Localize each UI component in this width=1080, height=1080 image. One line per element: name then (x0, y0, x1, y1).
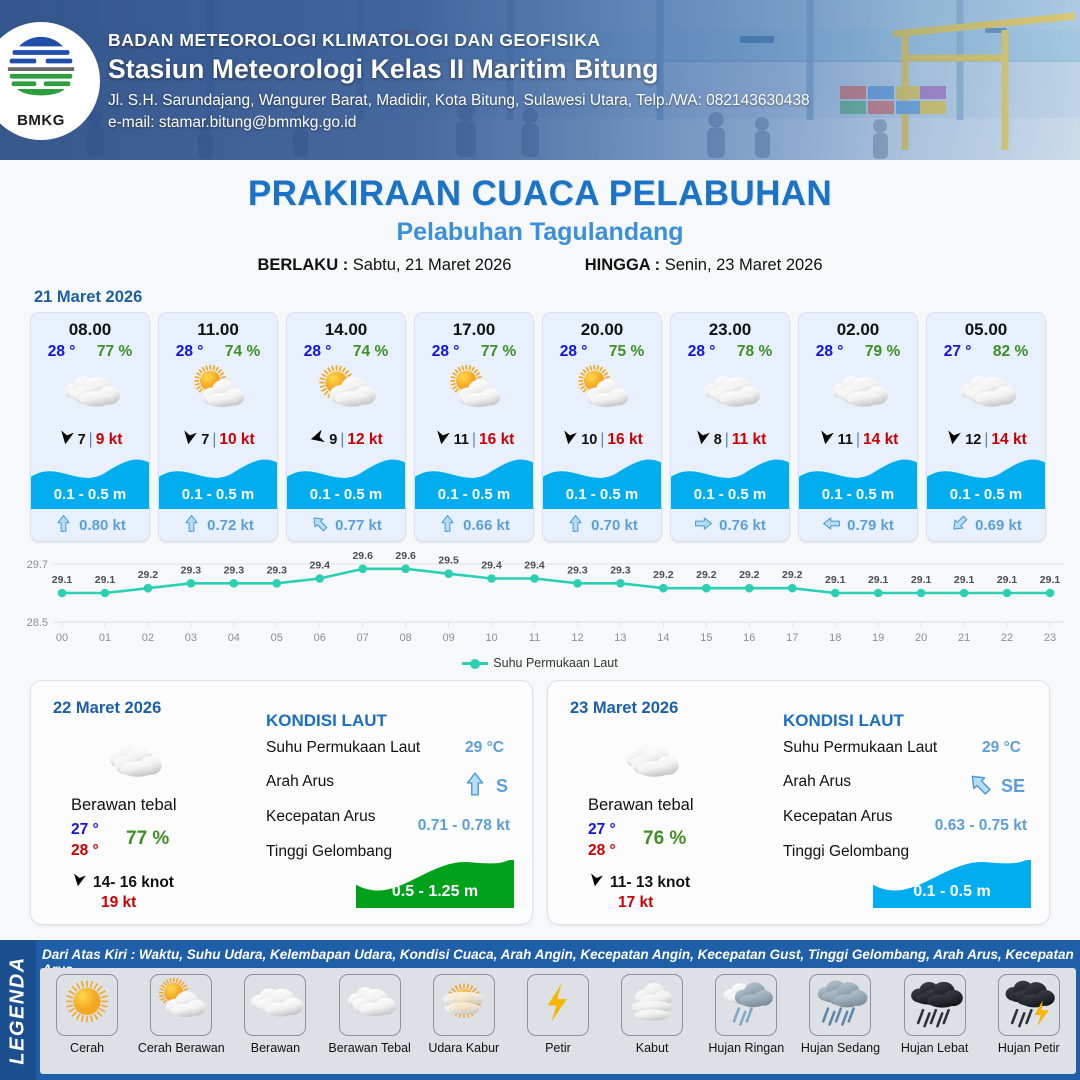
sea-condition-title: KONDISI LAUT (783, 711, 904, 731)
svg-text:07: 07 (357, 632, 369, 644)
hujan-petir-icon (1001, 975, 1057, 1036)
svg-text:29.7: 29.7 (27, 559, 48, 571)
svg-text:09: 09 (442, 632, 454, 644)
legenda-item-label: Udara Kabur (420, 1041, 508, 1055)
svg-text:29.4: 29.4 (481, 560, 502, 572)
panel-condition: Berawan tebal (71, 796, 177, 815)
hourly-card: 02.00 28 ° 79 % 11 | 14 kt 0.1 - 0.5 m (798, 312, 918, 542)
current-direction-arrow-icon (462, 771, 488, 802)
card-wave-block: 0.1 - 0.5 m (415, 457, 533, 509)
sst-chart-svg: 29.728.529.10029.10129.20229.30329.30429… (0, 550, 1080, 655)
valid-to-label: HINGGA : (585, 256, 660, 274)
svg-text:10: 10 (485, 632, 497, 644)
station-email: e-mail: stamar.bitung@bmmkg.go.id (108, 114, 810, 132)
hourly-card: 08.00 28 ° 77 % 7 | 9 kt 0.1 - 0.5 m (30, 312, 150, 542)
wind-direction-arrow-icon (588, 871, 604, 894)
card-time: 17.00 (415, 313, 533, 340)
card-time: 23.00 (671, 313, 789, 340)
current-speed: 0.71 - 0.78 kt (418, 817, 510, 835)
sea-surface-temperature: 29 °C (982, 739, 1021, 757)
sea-row-label: Kecepatan Arus (266, 808, 375, 826)
card-wind-row: 7 | 9 kt (31, 423, 149, 457)
svg-text:19: 19 (872, 632, 884, 644)
card-wind-speed: 7 (201, 432, 209, 448)
svg-text:29.5: 29.5 (438, 555, 459, 567)
svg-text:02: 02 (142, 632, 154, 644)
card-weather-icon (543, 361, 661, 423)
hourly-card: 23.00 28 ° 78 % 8 | 11 kt 0.1 - 0.5 m (670, 312, 790, 542)
card-wind-speed: 7 (78, 432, 86, 448)
legenda-icon-box (244, 974, 306, 1036)
legend-label: Suhu Permukaan Laut (493, 656, 617, 670)
card-humidity: 82 % (993, 343, 1028, 361)
card-current-row: 0.72 kt (159, 509, 277, 541)
svg-text:03: 03 (185, 632, 197, 644)
svg-text:29.1: 29.1 (954, 574, 975, 586)
card-current-row: 0.76 kt (671, 509, 789, 541)
card-humidity: 75 % (609, 343, 644, 361)
svg-text:29.2: 29.2 (739, 569, 760, 581)
card-weather-icon (799, 361, 917, 423)
card-wind-row: 8 | 11 kt (671, 423, 789, 457)
valid-to-value: Senin, 23 Maret 2026 (665, 256, 823, 274)
svg-text:22: 22 (1001, 632, 1013, 644)
berawan-icon (247, 975, 303, 1036)
legenda-icon-box (527, 974, 589, 1036)
panel-gust: 19 kt (101, 894, 136, 912)
sea-row-label: Suhu Permukaan Laut (783, 739, 937, 757)
card-wind-row: 7 | 10 kt (159, 423, 277, 457)
card-wave-height: 0.1 - 0.5 m (159, 486, 277, 503)
sea-row-label: Arah Arus (783, 773, 851, 791)
panel-wind-value: 11- 13 knot (610, 874, 690, 892)
wind-direction-arrow-icon (945, 428, 962, 452)
card-wave-height: 0.1 - 0.5 m (799, 486, 917, 503)
legenda-section: LEGENDA Dari Atas Kiri : Waktu, Suhu Uda… (0, 940, 1080, 1080)
card-current-speed: 0.66 kt (463, 517, 510, 534)
wind-direction-arrow-icon (309, 428, 326, 452)
wind-direction-arrow-icon (561, 428, 578, 452)
svg-text:28.5: 28.5 (27, 617, 48, 629)
legenda-item-label: Hujan Lebat (891, 1041, 979, 1055)
card-wind-speed: 11 (838, 432, 853, 448)
udara-kabur-icon (436, 975, 492, 1036)
card-temperature: 27 ° (944, 343, 972, 361)
card-humidity: 74 % (353, 343, 388, 361)
panel-wind: 11- 13 knot (588, 871, 690, 894)
current-direction-arrow-icon (822, 514, 841, 537)
hourly-card: 14.00 28 ° 74 % 9 | 12 kt 0.1 - 0.5 m 0.… (286, 312, 406, 542)
hourly-forecast-cards: 08.00 28 ° 77 % 7 | 9 kt 0.1 - 0.5 m (0, 312, 1080, 542)
legenda-item-label: Berawan Tebal (326, 1041, 414, 1055)
card-temperature: 28 ° (176, 343, 204, 361)
card-temperature: 28 ° (688, 343, 716, 361)
card-humidity: 78 % (737, 343, 772, 361)
card-current-speed: 0.76 kt (719, 517, 766, 534)
wind-direction-arrow-icon (181, 428, 198, 452)
legend-marker-icon (462, 662, 488, 665)
card-weather-icon (671, 361, 789, 423)
card-temperature: 28 ° (560, 343, 588, 361)
wind-direction-arrow-icon (818, 428, 835, 452)
station-address: Jl. S.H. Sarundajang, Wangurer Barat, Ma… (108, 92, 810, 110)
svg-text:12: 12 (571, 632, 583, 644)
card-humidity: 79 % (865, 343, 900, 361)
card-wave-block: 0.1 - 0.5 m (799, 457, 917, 509)
svg-text:18: 18 (829, 632, 841, 644)
card-wave-block: 0.1 - 0.5 m (31, 457, 149, 509)
card-wind-speed: 8 (714, 432, 722, 448)
legenda-icon-box (56, 974, 118, 1036)
card-time: 05.00 (927, 313, 1045, 340)
card-wind-row: 11 | 14 kt (799, 423, 917, 457)
legenda-item: Hujan Lebat (891, 974, 979, 1055)
card-wave-block: 0.1 - 0.5 m (927, 457, 1045, 509)
card-weather-icon (159, 361, 277, 423)
panel-wave-box: 0.1 - 0.5 m (873, 856, 1031, 908)
agency-name: BADAN METEOROLOGI KLIMATOLOGI DAN GEOFIS… (108, 30, 810, 51)
panel-weather-icon (610, 731, 690, 798)
svg-text:29.1: 29.1 (997, 574, 1018, 586)
current-direction-arrow-icon (694, 514, 713, 537)
legenda-item-label: Cerah Berawan (137, 1041, 225, 1055)
hourly-card: 17.00 28 ° 77 % 11 | 16 kt 0.1 - 0.5 m 0… (414, 312, 534, 542)
legenda-item: Kabut (608, 974, 696, 1055)
hujan-sedang-icon (812, 975, 868, 1036)
page-header: BMKG BADAN METEOROLOGI KLIMATOLOGI DAN G… (0, 0, 1080, 160)
svg-text:08: 08 (400, 632, 412, 644)
panel-condition: Berawan tebal (588, 796, 694, 815)
svg-text:11: 11 (529, 632, 540, 644)
card-humidity: 77 % (97, 343, 132, 361)
card-separator: | (340, 431, 344, 449)
card-temperature: 28 ° (304, 343, 332, 361)
card-wind-row: 9 | 12 kt (287, 423, 405, 457)
kabut-icon (624, 975, 680, 1036)
legenda-icon-box (433, 974, 495, 1036)
svg-text:29.2: 29.2 (653, 569, 674, 581)
card-wind-speed: 12 (965, 432, 981, 448)
card-separator: | (600, 431, 604, 449)
current-speed: 0.63 - 0.75 kt (935, 817, 1027, 835)
station-name: Stasiun Meteorologi Kelas II Maritim Bit… (108, 54, 810, 85)
legenda-item: Hujan Ringan (702, 974, 790, 1055)
card-time: 14.00 (287, 313, 405, 340)
hourly-card: 05.00 27 ° 82 % 12 | 14 kt 0.1 - 0.5 m (926, 312, 1046, 542)
legenda-item: Berawan (231, 974, 319, 1055)
current-direction-arrow-icon (566, 514, 585, 537)
card-gust: 9 kt (96, 431, 123, 449)
svg-text:29.3: 29.3 (567, 564, 588, 576)
card-wave-height: 0.1 - 0.5 m (415, 486, 533, 503)
legenda-side-text: LEGENDA (7, 956, 30, 1064)
svg-text:21: 21 (958, 632, 970, 644)
current-direction-arrow-icon (182, 514, 201, 537)
legenda-item: Berawan Tebal (326, 974, 414, 1055)
valid-from-value: Sabtu, 21 Maret 2026 (353, 256, 512, 274)
card-temperature: 28 ° (432, 343, 460, 361)
card-time: 02.00 (799, 313, 917, 340)
card-current-row: 0.77 kt (287, 509, 405, 541)
legenda-icon-box (998, 974, 1060, 1036)
current-direction-label: S (496, 776, 508, 797)
panel-wave-height: 0.1 - 0.5 m (873, 883, 1031, 901)
panel-temp-min: 27 ° (588, 821, 616, 839)
svg-text:14: 14 (657, 632, 669, 644)
svg-text:29.1: 29.1 (868, 574, 889, 586)
title-section: PRAKIRAAN CUACA PELABUHAN Pelabuhan Tagu… (0, 174, 1080, 275)
svg-text:13: 13 (614, 632, 626, 644)
panel-temp-min: 27 ° (71, 821, 99, 839)
sst-chart: 29.728.529.10029.10129.20229.30329.30429… (0, 550, 1080, 655)
daily-panel: 22 Maret 2026 Berawan tebal 27 ° 28 ° 77… (30, 680, 533, 925)
sea-row-label: Kecepatan Arus (783, 808, 892, 826)
legenda-item: Cerah (43, 974, 131, 1055)
svg-text:15: 15 (700, 632, 712, 644)
svg-text:29.2: 29.2 (696, 569, 717, 581)
card-gust: 16 kt (479, 431, 514, 449)
card-current-speed: 0.77 kt (335, 517, 382, 534)
panel-temp-max: 28 ° (588, 842, 616, 860)
hourly-card: 11.00 28 ° 74 % 7 | 10 kt 0.1 - 0.5 m 0.… (158, 312, 278, 542)
wind-direction-arrow-icon (71, 871, 87, 894)
legenda-icon-box (339, 974, 401, 1036)
sea-condition-title: KONDISI LAUT (266, 711, 387, 731)
card-wind-speed: 10 (581, 432, 597, 448)
svg-text:29.1: 29.1 (52, 574, 73, 586)
card-gust: 16 kt (607, 431, 642, 449)
legenda-item: Cerah Berawan (137, 974, 225, 1055)
card-separator: | (472, 431, 476, 449)
card-gust: 14 kt (863, 431, 898, 449)
validity-range: BERLAKU : Sabtu, 21 Maret 2026 HINGGA : … (0, 256, 1080, 275)
svg-text:29.6: 29.6 (395, 550, 416, 562)
card-gust: 10 kt (219, 431, 254, 449)
hujan-ringan-icon (718, 975, 774, 1036)
svg-text:00: 00 (56, 632, 68, 644)
card-wind-speed: 9 (329, 432, 337, 448)
current-direction: S (462, 771, 508, 802)
card-current-speed: 0.80 kt (79, 517, 126, 534)
card-current-speed: 0.70 kt (591, 517, 638, 534)
card-wave-block: 0.1 - 0.5 m (159, 457, 277, 509)
card-current-speed: 0.69 kt (975, 517, 1022, 534)
svg-text:29.1: 29.1 (1040, 574, 1061, 586)
svg-text:04: 04 (228, 632, 240, 644)
card-wave-block: 0.1 - 0.5 m (671, 457, 789, 509)
svg-text:17: 17 (786, 632, 798, 644)
svg-text:29.3: 29.3 (610, 564, 631, 576)
legenda-icon-box (904, 974, 966, 1036)
card-time: 20.00 (543, 313, 661, 340)
svg-text:16: 16 (743, 632, 755, 644)
sea-row-label: Arah Arus (266, 773, 334, 791)
daily-forecast-panels: 22 Maret 2026 Berawan tebal 27 ° 28 ° 77… (0, 670, 1080, 925)
cerah-berawan-icon (153, 975, 209, 1036)
header-text-block: BADAN METEOROLOGI KLIMATOLOGI DAN GEOFIS… (108, 30, 810, 132)
daily-panel: 23 Maret 2026 Berawan tebal 27 ° 28 ° 76… (547, 680, 1050, 925)
card-gust: 12 kt (347, 431, 382, 449)
card-gust: 14 kt (991, 431, 1026, 449)
card-time: 11.00 (159, 313, 277, 340)
berawan-tebal-icon (342, 975, 398, 1036)
card-current-speed: 0.72 kt (207, 517, 254, 534)
svg-text:23: 23 (1044, 632, 1056, 644)
card-wave-height: 0.1 - 0.5 m (543, 486, 661, 503)
sea-row-label: Suhu Permukaan Laut (266, 739, 420, 757)
svg-text:01: 01 (99, 632, 111, 644)
card-separator: | (856, 431, 860, 449)
card-wave-height: 0.1 - 0.5 m (31, 486, 149, 503)
svg-text:29.4: 29.4 (310, 560, 331, 572)
page-title: PRAKIRAAN CUACA PELABUHAN (0, 174, 1080, 214)
current-direction-arrow-icon (967, 771, 993, 802)
card-humidity: 77 % (481, 343, 516, 361)
card-separator: | (212, 431, 216, 449)
panel-date: 23 Maret 2026 (570, 699, 678, 718)
legenda-item-label: Cerah (43, 1041, 131, 1055)
card-weather-icon (927, 361, 1045, 423)
card-current-row: 0.79 kt (799, 509, 917, 541)
wind-direction-arrow-icon (694, 428, 711, 452)
card-weather-icon (287, 361, 405, 423)
legenda-item-label: Petir (514, 1041, 602, 1055)
hourly-card: 20.00 28 ° 75 % 10 | 16 kt 0.1 - 0.5 m 0… (542, 312, 662, 542)
current-direction-arrow-icon (950, 514, 969, 537)
valid-from-label: BERLAKU : (257, 256, 348, 274)
card-current-row: 0.69 kt (927, 509, 1045, 541)
legenda-icon-box (809, 974, 871, 1036)
svg-text:29.1: 29.1 (825, 574, 846, 586)
panel-temp-max: 28 ° (71, 842, 99, 860)
card-separator: | (984, 431, 988, 449)
port-name: Pelabuhan Tagulandang (0, 218, 1080, 247)
current-direction-arrow-icon (54, 514, 73, 537)
legenda-icon-box (621, 974, 683, 1036)
legenda-item: Udara Kabur (420, 974, 508, 1055)
panel-wind-value: 14- 16 knot (93, 874, 174, 892)
legenda-icon-box (715, 974, 777, 1036)
card-wind-row: 10 | 16 kt (543, 423, 661, 457)
legenda-item-label: Hujan Petir (985, 1041, 1073, 1055)
bmkg-logo-icon (0, 35, 84, 107)
card-separator: | (725, 431, 729, 449)
wind-direction-arrow-icon (58, 428, 75, 452)
current-direction-arrow-icon (310, 514, 329, 537)
petir-icon (530, 975, 586, 1036)
legenda-item-label: Kabut (608, 1041, 696, 1055)
svg-text:29.4: 29.4 (524, 560, 545, 572)
card-wave-block: 0.1 - 0.5 m (543, 457, 661, 509)
hujan-lebat-icon (907, 975, 963, 1036)
card-wind-row: 12 | 14 kt (927, 423, 1045, 457)
svg-text:29.2: 29.2 (782, 569, 803, 581)
card-current-row: 0.80 kt (31, 509, 149, 541)
svg-text:29.2: 29.2 (138, 569, 159, 581)
svg-text:20: 20 (915, 632, 927, 644)
bmkg-logo-text: BMKG (0, 112, 84, 129)
legenda-item: Hujan Sedang (796, 974, 884, 1055)
card-wave-height: 0.1 - 0.5 m (927, 486, 1045, 503)
legenda-item-label: Hujan Sedang (796, 1041, 884, 1055)
panel-date: 22 Maret 2026 (53, 699, 161, 718)
current-direction-arrow-icon (438, 514, 457, 537)
panel-wave-box: 0.5 - 1.25 m (356, 856, 514, 908)
legenda-icon-box (150, 974, 212, 1036)
card-wind-speed: 11 (454, 432, 469, 448)
svg-text:29.3: 29.3 (181, 564, 202, 576)
card-temperature: 28 ° (48, 343, 76, 361)
current-direction: SE (967, 771, 1025, 802)
panel-weather-icon (93, 731, 173, 798)
card-wave-height: 0.1 - 0.5 m (287, 486, 405, 503)
card-wave-block: 0.1 - 0.5 m (287, 457, 405, 509)
card-separator: | (89, 431, 93, 449)
card-current-speed: 0.79 kt (847, 517, 894, 534)
card-temperature: 28 ° (816, 343, 844, 361)
panel-humidity: 77 % (126, 828, 169, 850)
card-weather-icon (415, 361, 533, 423)
svg-text:29.3: 29.3 (224, 564, 245, 576)
panel-humidity: 76 % (643, 828, 686, 850)
svg-text:29.3: 29.3 (267, 564, 288, 576)
svg-text:05: 05 (271, 632, 283, 644)
card-weather-icon (31, 361, 149, 423)
card-wave-height: 0.1 - 0.5 m (671, 486, 789, 503)
panel-wave-height: 0.5 - 1.25 m (356, 883, 514, 901)
legenda-side-label: LEGENDA (0, 940, 36, 1080)
panel-gust: 17 kt (618, 894, 653, 912)
sea-surface-temperature: 29 °C (465, 739, 504, 757)
card-current-row: 0.70 kt (543, 509, 661, 541)
card-humidity: 74 % (225, 343, 260, 361)
wind-direction-arrow-icon (434, 428, 451, 452)
svg-text:29.1: 29.1 (95, 574, 116, 586)
legenda-item-label: Berawan (231, 1041, 319, 1055)
legenda-items: Cerah Cerah Berawan Berawan Berawan Teba (40, 968, 1076, 1074)
current-direction-label: SE (1001, 776, 1025, 797)
card-wind-row: 11 | 16 kt (415, 423, 533, 457)
svg-text:29.6: 29.6 (352, 550, 373, 562)
card-time: 08.00 (31, 313, 149, 340)
legenda-item-label: Hujan Ringan (702, 1041, 790, 1055)
legenda-item: Petir (514, 974, 602, 1055)
cerah-icon (59, 975, 115, 1036)
panel-wind: 14- 16 knot (71, 871, 174, 894)
card-gust: 11 kt (732, 431, 766, 449)
svg-text:29.1: 29.1 (911, 574, 932, 586)
legenda-item: Hujan Petir (985, 974, 1073, 1055)
card-current-row: 0.66 kt (415, 509, 533, 541)
svg-text:06: 06 (314, 632, 326, 644)
chart-legend: Suhu Permukaan Laut (0, 656, 1080, 670)
hourly-date-label: 21 Maret 2026 (34, 288, 1080, 307)
